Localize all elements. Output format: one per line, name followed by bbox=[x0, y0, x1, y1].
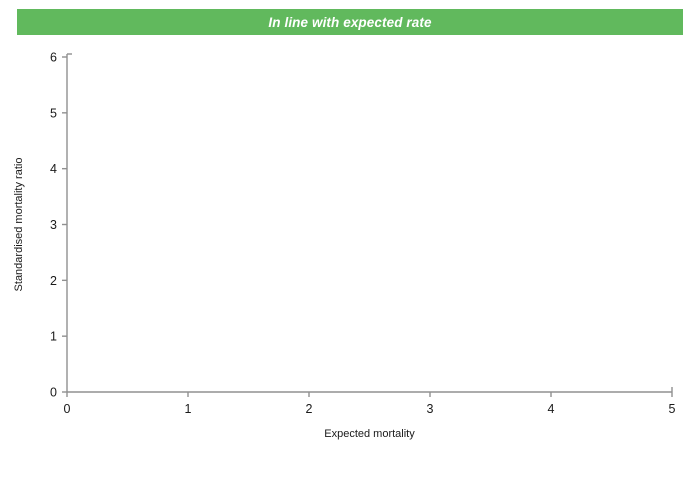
y-tick-label: 6 bbox=[50, 51, 57, 65]
x-axis-title: Expected mortality bbox=[324, 428, 415, 440]
x-tick-label: 5 bbox=[669, 402, 676, 416]
y-axis-title: Standardised mortality ratio bbox=[13, 158, 25, 292]
chart-legend bbox=[0, 452, 700, 482]
x-tick-label: 4 bbox=[548, 402, 555, 416]
x-tick-label: 3 bbox=[427, 402, 434, 416]
x-tick-label: 2 bbox=[306, 402, 313, 416]
y-tick-label: 4 bbox=[50, 162, 57, 176]
status-banner: In line with expected rate bbox=[17, 9, 683, 35]
y-tick-label: 5 bbox=[50, 106, 57, 120]
y-tick-label: 1 bbox=[50, 330, 57, 344]
y-tick-label: 3 bbox=[50, 218, 57, 232]
y-tick-label: 2 bbox=[50, 274, 57, 288]
x-tick-label: 1 bbox=[185, 402, 192, 416]
y-tick-label: 0 bbox=[50, 386, 57, 400]
x-tick-label: 0 bbox=[64, 402, 71, 416]
funnel-plot-panel: In line with expected rate 0123456012345… bbox=[0, 0, 700, 500]
status-banner-title: In line with expected rate bbox=[268, 15, 431, 30]
funnel-plot-chart: 0123456012345Expected mortalityStandardi… bbox=[0, 36, 700, 446]
